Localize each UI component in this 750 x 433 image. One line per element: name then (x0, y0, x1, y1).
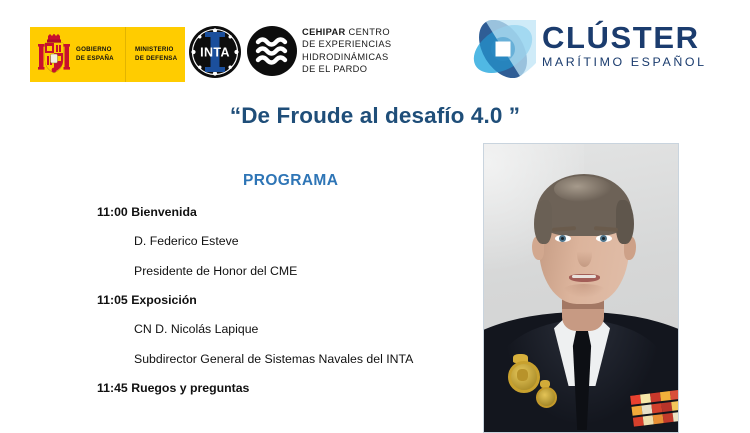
cehipar-text-line-2: DE EXPERIENCIAS (302, 38, 391, 50)
medal-ribbon-bars (630, 388, 678, 429)
program-list: 11:00 Bienvenida D. Federico Esteve Pres… (97, 198, 477, 402)
naval-insignia-badge-icon (508, 361, 540, 393)
left-pupil (561, 237, 564, 240)
hair-highlight (554, 176, 612, 202)
program-slot: 11:00 Bienvenida D. Federico Esteve Pres… (97, 198, 477, 286)
gobierno-section: GOBIERNO DE ESPAÑA (30, 27, 126, 82)
spain-coat-of-arms-icon (37, 34, 71, 76)
program-slot-detail: D. Federico Esteve (134, 226, 477, 256)
cluster-main-label: CLÚSTER (542, 22, 707, 54)
cehipar-text-line-3: HIDRODINÁMICAS (302, 51, 391, 63)
program-slot: 11:05 Exposición CN D. Nicolás Lapique S… (97, 286, 477, 374)
programa-heading: PROGRAMA (243, 172, 338, 190)
gobierno-de-espana-logo: GOBIERNO DE ESPAÑA MINISTERIO DE DEFENSA (30, 27, 185, 82)
hair-left-side (534, 200, 552, 244)
ministerio-line-2: DE DEFENSA (135, 55, 177, 64)
cehipar-waves-icon (246, 25, 298, 77)
program-slot-time: 11:00 Bienvenida (97, 198, 477, 226)
gobierno-label: GOBIERNO DE ESPAÑA (76, 46, 114, 64)
svg-text:INTA: INTA (200, 46, 230, 60)
program-slot-time: 11:45 Ruegos y preguntas (97, 374, 477, 402)
gobierno-line-2: DE ESPAÑA (76, 55, 114, 64)
program-slot-detail: CN D. Nicolás Lapique (134, 314, 477, 344)
ministerio-section: MINISTERIO DE DEFENSA (126, 27, 177, 82)
small-naval-insignia-icon (536, 387, 557, 408)
teeth (572, 275, 596, 278)
program-slot-detail: Presidente de Honor del CME (134, 256, 477, 286)
cehipar-line-1-rest: CENTRO (346, 27, 390, 37)
hair-right-side (616, 200, 634, 244)
cluster-sub-label: MARÍTIMO ESPAÑOL (542, 55, 707, 69)
cluster-maritimo-espanol-logo: CLÚSTER MARÍTIMO ESPAÑOL (470, 18, 720, 80)
cluster-wordmark: CLÚSTER MARÍTIMO ESPAÑOL (542, 22, 707, 69)
cehipar-text-line-1: CEHIPAR CENTRO (302, 26, 391, 38)
ministerio-line-1: MINISTERIO (135, 46, 177, 55)
nose (577, 241, 592, 267)
gobierno-line-1: GOBIERNO (76, 46, 114, 55)
cehipar-text-line-4: DE EL PARDO (302, 63, 391, 75)
cehipar-wordmark: CEHIPAR CENTRO DE EXPERIENCIAS HIDRODINÁ… (302, 26, 391, 76)
speaker-portrait-photo (483, 143, 679, 433)
cehipar-name: CEHIPAR (302, 27, 346, 37)
page-title: “De Froude al desafío 4.0 ” (0, 103, 750, 129)
program-slot: 11:45 Ruegos y preguntas (97, 374, 477, 402)
right-pupil (602, 237, 605, 240)
program-slot-detail: Subdirector General de Sistemas Navales … (134, 344, 477, 374)
ministerio-label: MINISTERIO DE DEFENSA (135, 46, 177, 64)
chin-shadow (562, 284, 606, 298)
program-slot-time: 11:05 Exposición (97, 286, 477, 314)
header-logo-bar: GOBIERNO DE ESPAÑA MINISTERIO DE DEFENSA (0, 0, 750, 95)
cluster-sphere-icon (470, 20, 536, 78)
inta-roundel-icon: INTA (188, 25, 242, 79)
portrait-image (484, 144, 678, 432)
